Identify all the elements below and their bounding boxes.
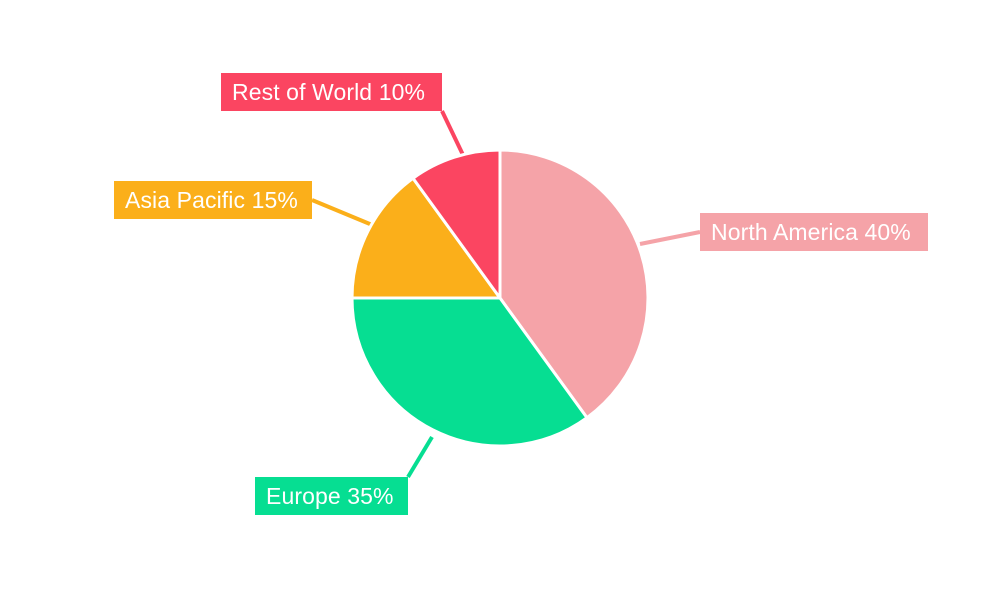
- pie-chart-container: North America 40% Europe 35% Asia Pacifi…: [0, 0, 1000, 600]
- slice-label-text: North America 40%: [711, 221, 911, 244]
- slice-label-text: Rest of World 10%: [232, 81, 425, 104]
- leader-line-europe: [408, 437, 432, 477]
- slice-label-asia-pacific[interactable]: Asia Pacific 15%: [114, 181, 312, 219]
- leader-line-north-america: [640, 232, 700, 244]
- pie-chart-svg: [0, 0, 1000, 600]
- slice-label-text: Europe 35%: [266, 485, 394, 508]
- slice-label-text: Asia Pacific 15%: [125, 189, 298, 212]
- slice-label-europe[interactable]: Europe 35%: [255, 477, 408, 515]
- pie-slice-group: [352, 150, 648, 446]
- leader-line-rest-of-world: [442, 111, 464, 157]
- slice-label-rest-of-world[interactable]: Rest of World 10%: [221, 73, 442, 111]
- slice-label-north-america[interactable]: North America 40%: [700, 213, 928, 251]
